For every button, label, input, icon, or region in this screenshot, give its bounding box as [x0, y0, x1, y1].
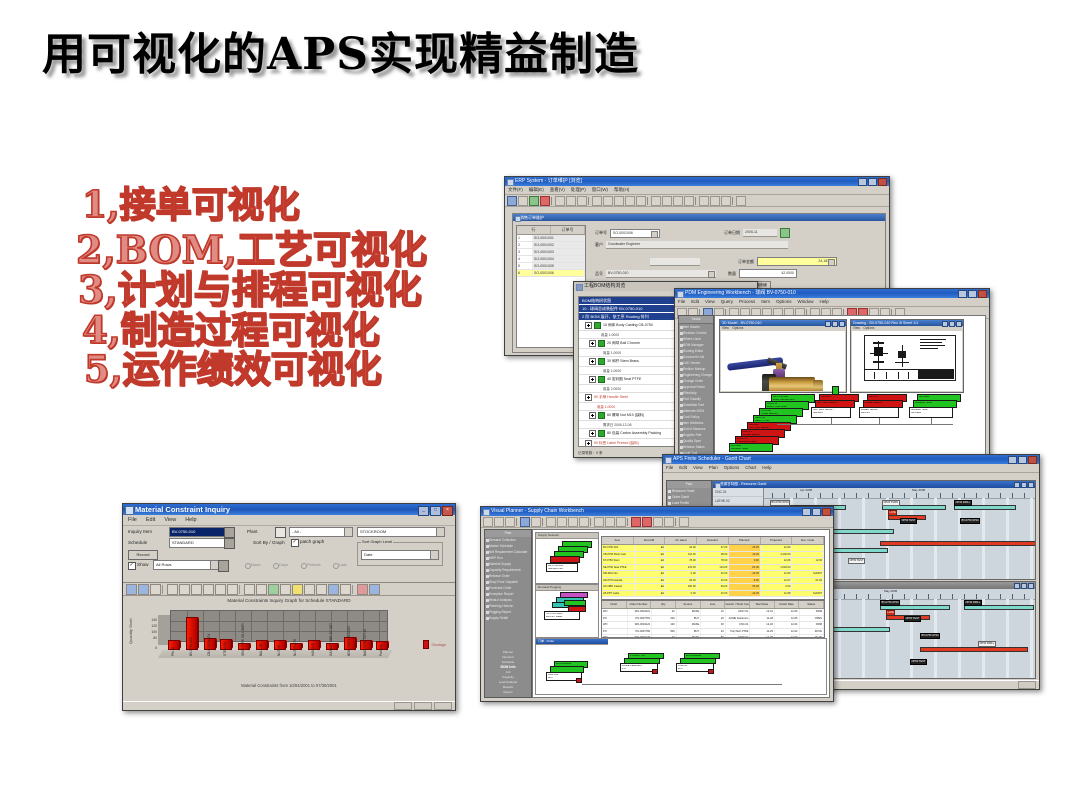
legend-swatch-shortage [423, 640, 429, 649]
input-inquiry-item[interactable]: BV-0750-010 [169, 527, 225, 537]
table-row[interactable]: 1 SO-0001001 [517, 235, 585, 242]
node-sublabel: LABEL SHORT [865, 402, 901, 405]
minimize-icon[interactable] [802, 508, 811, 516]
cell-order: PO [602, 629, 628, 635]
zoom-in-icon[interactable] [304, 584, 315, 595]
cell-projected: 4,200.00 [761, 552, 793, 558]
tree-item-sub: 用量 2.0000 [603, 386, 621, 391]
node-detail-line-2: LB-PRT [861, 412, 897, 415]
app-icon [677, 291, 684, 298]
maximize-icon[interactable] [1018, 456, 1027, 464]
grid-col-no: 行 [517, 226, 551, 234]
cad-note-line-2 [920, 342, 942, 343]
menu-view[interactable]: View [853, 326, 860, 330]
menubar-erp[interactable]: 文件(F) 编辑(E) 查看(V) 处理(P) 窗口(W) 帮助(H) [505, 186, 889, 195]
open-chart-icon[interactable] [126, 584, 137, 595]
menubar-pdm[interactable]: File Edit View Query Process Item Option… [675, 298, 989, 307]
node-card-short[interactable] [550, 556, 580, 563]
menu-window[interactable]: Window [798, 298, 814, 306]
cad-note-line-4 [920, 348, 938, 349]
cell-qty: 200 [652, 616, 677, 622]
gantt-bar-label: BV-0750 OP10 [960, 518, 980, 524]
radio-none[interactable]: None [251, 562, 261, 567]
help-icon[interactable] [736, 196, 746, 206]
maximize-icon[interactable] [968, 290, 977, 298]
table-view-icon[interactable] [227, 584, 238, 595]
subwindow-3d-viewer[interactable]: 3D Model - BV-0750-010 View Options [719, 319, 847, 393]
cad-note-line-1 [920, 339, 946, 340]
cut-icon[interactable] [555, 196, 565, 206]
gantt-row-header[interactable]: LATHE-02 [713, 497, 763, 506]
maximize-icon[interactable] [949, 321, 955, 327]
plan-pane-order[interactable]: 订单 - Order WO-0004121 ASSY-01 WO PO-0007… [535, 638, 827, 695]
menu-help[interactable]: Help [820, 298, 829, 306]
save-chart-icon[interactable] [138, 584, 149, 595]
sort-icon[interactable] [662, 196, 672, 206]
plan-canvas[interactable]: Supply Network BV-0750-010 NM-M10 Nut De… [532, 529, 830, 698]
select-plant[interactable]: - All - [289, 527, 353, 537]
node-detail-box[interactable]: LABEL SHORT LB-PRT [859, 407, 899, 418]
cell-item: ST-0750 Stem [602, 558, 635, 564]
maximize-icon[interactable] [832, 321, 838, 327]
save-icon[interactable] [529, 196, 539, 206]
plan-pane-supply-network[interactable]: Supply Network BV-0750-010 NM-M10 Nut [535, 532, 599, 584]
chart-container[interactable]: Material Constraints Inquiry Graph for S… [124, 596, 454, 700]
cell-demand: 134.00 [698, 565, 730, 571]
cad-titleblock [918, 370, 954, 379]
cell-item: HD-0750 Handle [602, 578, 635, 584]
menu-edit[interactable]: 编辑(E) [529, 186, 544, 194]
menubar-mci[interactable]: File Edit View Help [123, 515, 455, 526]
print-icon[interactable] [664, 517, 674, 527]
exception-icon[interactable] [616, 517, 626, 527]
input-qty[interactable]: 42.0000 [739, 269, 797, 278]
table-row-selected[interactable]: 6 SO-0001006 [517, 270, 585, 277]
x-tick-label: BV-0750-010 [189, 637, 193, 656]
table-row[interactable]: 2 SO-0001002 [517, 242, 585, 249]
toolbar-separator [675, 518, 678, 526]
depth-icon[interactable] [256, 584, 267, 595]
chart-title: Material Constraints Inquiry Graph for S… [124, 598, 454, 603]
cell-line: 30 [701, 622, 726, 628]
toolbar-erp[interactable] [505, 195, 889, 207]
graph-connector [582, 684, 782, 685]
table-row[interactable]: 4 SO-0001004 [517, 256, 585, 263]
node-detail-box[interactable]: BV-0750-010 NM-M10 Nut [546, 563, 578, 572]
minimize-icon[interactable] [1008, 456, 1017, 464]
menu-help[interactable]: Help [762, 464, 771, 472]
minimize-icon[interactable] [858, 178, 867, 186]
cell-status: OPEN [800, 616, 825, 622]
subwindow-titlebar-cad[interactable]: Drawing - BV-0750-010 Rev. B Sheet 1/1 [851, 320, 963, 326]
close-icon[interactable] [839, 321, 845, 327]
toolbar-separator [732, 197, 735, 205]
table-row[interactable]: 5 SO-0001005 [517, 263, 585, 270]
menubar-gantt[interactable]: File Edit View Plan Options Chart Help [663, 464, 1039, 473]
titlebar-mci[interactable]: Material Constraint Inquiry _ □ × [123, 504, 455, 515]
col-demand: Demand [697, 537, 729, 544]
gantt-bar-late[interactable] [880, 541, 1036, 546]
cell-onhand: 36.00 [666, 578, 698, 584]
window-controls[interactable]: _ □ × [418, 506, 453, 516]
planning-table-sub[interactable]: Order Order Number Qty Source Line Vendo… [601, 600, 825, 638]
menu-help[interactable]: 帮助(H) [614, 186, 629, 194]
prev-record-icon[interactable] [603, 196, 613, 206]
form-row-amount: 订单金额 24,183.00 [595, 257, 882, 266]
filter-icon[interactable] [531, 517, 541, 527]
cell-demand: 84.00 [698, 584, 730, 590]
menu-edit[interactable]: Edit [691, 298, 699, 306]
zoom-out-icon[interactable] [316, 584, 327, 595]
window-title-mci: Material Constraint Inquiry [135, 505, 230, 514]
input-schedule[interactable]: STANDARD [169, 538, 225, 548]
menu-options[interactable]: Options [732, 326, 743, 330]
gantt-axis-label: Apr 2005 [800, 488, 812, 492]
copy-icon[interactable] [566, 196, 576, 206]
gantt-panel-titlebar-1[interactable]: 资源甘特图 - Resource Gantt [713, 481, 1035, 488]
toolbar-plan[interactable] [481, 516, 833, 528]
prev-record-icon[interactable] [557, 517, 567, 527]
col-item: Item [602, 537, 634, 544]
first-record-icon[interactable] [592, 196, 602, 206]
mrp-run-icon[interactable] [594, 517, 604, 527]
find-icon[interactable] [636, 196, 646, 206]
menu-file[interactable]: 文件(F) [508, 186, 523, 194]
report-icon[interactable] [653, 517, 663, 527]
node-card-short[interactable] [708, 669, 714, 674]
cell-onhand: 0.00 [666, 571, 698, 577]
cell-order: SO-0001005 [533, 263, 585, 269]
minimize-icon[interactable] [958, 290, 967, 298]
gridlines-icon[interactable] [280, 584, 291, 595]
status-text: 记录笔数：9 条 [578, 451, 603, 456]
close-icon[interactable]: × [442, 506, 453, 516]
window-controls[interactable] [802, 508, 831, 516]
menu-process[interactable]: 处理(P) [571, 186, 586, 194]
gantt-bar-label: OP30 DRILL [964, 600, 982, 606]
cell-item: SE-0750 Seat PTFE [602, 565, 635, 571]
minimize-icon[interactable] [825, 321, 831, 327]
menu-process[interactable]: Process [739, 298, 755, 306]
col-exc-code: Exc. Code [792, 537, 824, 544]
label-show: Show [137, 562, 149, 567]
expand-icon[interactable] [589, 430, 596, 437]
menu-help[interactable]: Help [185, 515, 196, 525]
cell-demand: 78.00 [698, 558, 730, 564]
print-icon[interactable] [684, 196, 694, 206]
cell-exc [792, 545, 824, 551]
expand-icon[interactable] [589, 340, 596, 347]
menu-edit[interactable]: Edit [679, 464, 687, 472]
menu-window[interactable]: 窗口(W) [592, 186, 608, 194]
pegging-icon[interactable] [605, 517, 615, 527]
window-controls[interactable] [858, 178, 887, 186]
table-header: Item Rev/UM On Hand Demand Planned Proje… [602, 537, 824, 545]
maximize-icon[interactable] [812, 508, 821, 516]
cell-start: 12-02 [750, 622, 775, 628]
window-controls[interactable] [958, 290, 987, 298]
menu-file[interactable]: File [678, 298, 685, 306]
subwindow-cad-viewer[interactable]: Drawing - BV-0750-010 Rev. B Sheet 1/1 V… [850, 319, 964, 393]
stacked-chart-icon[interactable] [215, 584, 226, 595]
cell-projected: 12-08 [761, 591, 793, 597]
tree-item-label: 60 螺母 Nut M10 (缺料) [607, 413, 644, 418]
valve-3d-model[interactable] [721, 331, 845, 391]
input-amount[interactable]: 24,183.00 [757, 257, 837, 266]
minimize-icon[interactable] [942, 321, 948, 327]
bullet-list: 1,接单可视化 2,BOM,工艺可视化 3,计划与排程可视化 4,制造过程可视化… [76, 186, 476, 389]
calendar-icon[interactable] [721, 196, 731, 206]
titlebar-plan[interactable]: Visual Planner - Supply Chain Workbench [481, 507, 833, 516]
cell-rev: EA [635, 565, 667, 571]
cad-note-line-3 [920, 345, 945, 346]
close-icon[interactable] [822, 508, 831, 516]
bar-chart-icon[interactable] [167, 584, 178, 595]
toolbar-separator [516, 518, 519, 526]
menu-chart[interactable]: Chart [745, 464, 756, 472]
form-row-order-no: 订单号 SO-0001006 订单日期 2005-11 [595, 228, 882, 238]
menu-query[interactable]: Query [721, 298, 733, 306]
last-record-icon[interactable] [579, 517, 589, 527]
confirm-icon[interactable] [780, 228, 790, 238]
apply-button[interactable] [218, 560, 229, 572]
cell-onhand: 0.00 [666, 591, 698, 597]
table-row[interactable]: 3 SO-0001003 [517, 249, 585, 256]
cell-order: SO-0001001 [533, 235, 585, 241]
menu-file[interactable]: File [666, 464, 673, 472]
menu-plan[interactable]: Plan [709, 464, 718, 472]
patch-graph-checkbox[interactable] [291, 539, 299, 547]
window-material-constraint-inquiry[interactable]: Material Constraint Inquiry _ □ × File E… [122, 503, 456, 711]
radio-periods[interactable]: Periods [307, 562, 321, 567]
cell-qty: 42 [652, 609, 677, 615]
cell-order: SO-0001002 [533, 242, 585, 248]
toolbar-mci[interactable] [123, 583, 455, 596]
cell-vendor: ASSY-01 [726, 609, 751, 615]
rotate-3d-icon[interactable] [244, 584, 255, 595]
delete-icon[interactable] [540, 196, 550, 206]
cell-onhand: 78.00 [666, 558, 698, 564]
expand-icon[interactable] [585, 440, 592, 447]
select-warehouse[interactable]: STOCKROOM [357, 527, 445, 537]
new-icon[interactable] [507, 196, 517, 206]
col-finish-date: Finish Date [775, 601, 800, 608]
titlebar-erp[interactable]: ERP System - 订单维护 [浏览] [505, 177, 889, 186]
expand-icon[interactable] [589, 376, 596, 383]
part-icon [598, 376, 605, 383]
print-icon[interactable] [340, 584, 351, 595]
sidebar-item-supply-detail[interactable]: Supply Detail [485, 615, 531, 621]
menu-edit[interactable]: Edit [146, 515, 155, 525]
node-detail-box[interactable]: GASKET NBR GK-NBR [909, 407, 953, 418]
cell-planned: -25.00 [729, 545, 761, 551]
menu-view[interactable]: View [693, 464, 703, 472]
x-tick-label: NUT PLATE [293, 639, 297, 656]
radio-late[interactable]: Late [339, 562, 347, 567]
x-tick-label: CB-0750 BODY [207, 634, 211, 657]
sidebar-footer-report[interactable]: Report [485, 690, 531, 695]
valve-body-shape [769, 377, 815, 391]
node-detail-line: NM-M10 Nut [548, 568, 576, 571]
chart-legend[interactable]: Shortage [423, 640, 446, 649]
window-controls[interactable] [825, 321, 845, 327]
node-detail-line-2: GK-NBR [911, 412, 951, 415]
close-icon[interactable] [956, 321, 962, 327]
cell-demand: 42.00 [698, 571, 730, 577]
gantt-bar-label: OP50 TEST [900, 518, 917, 524]
copy-icon[interactable] [150, 584, 161, 595]
highlight-icon[interactable] [292, 584, 303, 595]
subwindow-titlebar-3d[interactable]: 3D Model - BV-0750-010 [720, 320, 846, 326]
plan-pane-title-3: 订单 - Order [536, 639, 608, 645]
expand-icon[interactable] [589, 358, 596, 365]
minimize-icon[interactable]: _ [418, 506, 429, 516]
cell-no: 6 [517, 270, 533, 276]
export-icon[interactable] [699, 196, 709, 206]
line-chart-icon[interactable] [179, 584, 190, 595]
cell-finish: 12-02 [775, 629, 800, 635]
pdm-sidebar[interactable]: Tasks Item Master Revision Control Where… [678, 315, 714, 464]
bom-network-graph[interactable]: BV-0750-010 BALL VALVE ASSY CB-0750 BODY… [715, 392, 985, 463]
label-plant: Plant [247, 529, 257, 534]
tree-item-label: 50 手柄 Handle Steel [594, 395, 628, 400]
tree-item-label: 10 阀体 Body Casting CB-0750 [603, 323, 653, 328]
save-icon[interactable] [505, 517, 515, 527]
lookup-button[interactable] [224, 538, 235, 549]
lookup-button[interactable] [224, 527, 235, 538]
window-visual-planner[interactable]: Visual Planner - Supply Chain Workbench [480, 506, 834, 702]
mci-parameter-panel[interactable]: Inquiry Item BV-0750-010 Schedule STANDA… [123, 526, 455, 583]
node-card-short[interactable] [576, 678, 582, 683]
planning-table-main[interactable]: Item Rev/UM On Hand Demand Planned Proje… [601, 536, 825, 600]
cell-source: MAKE [677, 622, 702, 628]
filter-icon[interactable] [651, 196, 661, 206]
cell-status: FIRM [800, 609, 825, 615]
cell-projected: 1,018.00 [761, 565, 793, 571]
next-record-icon[interactable] [568, 517, 578, 527]
open-icon[interactable] [494, 517, 504, 527]
menu-options[interactable]: Options [776, 298, 792, 306]
cell-finish: 12-05 [775, 616, 800, 622]
menu-file[interactable]: File [128, 515, 137, 525]
maximize-icon[interactable]: □ [430, 506, 441, 516]
open-icon[interactable] [518, 196, 528, 206]
col-line: Line [701, 601, 726, 608]
close-icon[interactable] [978, 290, 987, 298]
titlebar-gantt[interactable]: APS Finite Scheduler - Gantt Chart [663, 455, 1039, 464]
col-qty: Qty [651, 601, 676, 608]
plan-pane-demand-pegging[interactable]: Demand Pegging ST-0750 Stem LB-PRT Label [535, 584, 599, 638]
help-icon[interactable] [679, 517, 689, 527]
plan-sidebar[interactable]: Plan Demand Collection Master Schedule N… [484, 529, 532, 698]
window-pdm[interactable]: PDM Engineering Workbench - 球阀 BV-0750-0… [674, 288, 990, 468]
expand-icon[interactable] [585, 322, 592, 329]
node-card[interactable]: GK-NBR GASKET NBR [729, 443, 773, 452]
area-chart-icon[interactable] [191, 584, 202, 595]
window-controls[interactable] [1008, 456, 1037, 464]
mdi-titlebar[interactable]: 销售订单维护 [513, 214, 885, 221]
cad-drawing-area[interactable] [852, 331, 962, 391]
menu-view[interactable]: View [722, 326, 729, 330]
pie-chart-icon[interactable] [203, 584, 214, 595]
first-record-icon[interactable] [546, 517, 556, 527]
shortage-icon[interactable] [631, 517, 641, 527]
menu-options[interactable]: Options [724, 464, 740, 472]
node-detail-box[interactable]: ST-0750 Stem LB-PRT Label [544, 611, 580, 620]
table-row[interactable]: LB-PRT Label EA 0.00 42.00 -42.00 12-08 … [602, 591, 824, 598]
window-controls[interactable] [942, 321, 962, 327]
cell-source: MAKE [677, 609, 702, 615]
alert-icon[interactable] [642, 517, 652, 527]
label-qty: 数量 [728, 271, 736, 277]
select-display[interactable]: All Rows [153, 560, 219, 570]
close-icon[interactable] [1028, 456, 1037, 464]
menu-view[interactable]: View [705, 298, 715, 306]
cell-demand: 68.00 [698, 552, 730, 558]
gantt-bar-label: BV-0750 OP10 [880, 600, 900, 606]
chart-plot-area[interactable]: 140 120 100 60 0 PN-40 BV-0750-010 CB-07… [158, 610, 388, 658]
chart-icon[interactable] [710, 196, 720, 206]
cell-order: WO [602, 635, 628, 638]
gantt-row-header[interactable]: CNC-01 [713, 488, 763, 497]
menu-view[interactable]: View [164, 515, 176, 525]
cad-titleblock-cell [886, 372, 887, 379]
app-icon [665, 457, 672, 464]
expand-icon[interactable] [589, 412, 596, 419]
print-preview-icon[interactable] [328, 584, 339, 595]
table-row[interactable]: WO WO-0004123 42 MAKE 50 TEST-01 12-06 1… [602, 635, 824, 638]
cell-line: 50 [701, 635, 726, 638]
radio-days[interactable]: Days [279, 562, 288, 567]
node-detail-box[interactable]: NUT M10 SHORT NM-M10 [811, 407, 851, 418]
expand-icon[interactable] [585, 394, 592, 401]
search-icon[interactable] [520, 517, 530, 527]
legend-icon[interactable] [268, 584, 279, 595]
next-record-icon[interactable] [614, 196, 624, 206]
toolbar-separator [695, 197, 698, 205]
show-checkbox[interactable] [128, 562, 136, 570]
table-header: Order Order Number Qty Source Line Vendo… [602, 601, 824, 609]
input-misc[interactable] [650, 258, 700, 266]
node-card-short[interactable] [652, 669, 658, 674]
refresh-icon[interactable] [673, 196, 683, 206]
record-button[interactable]: Record [128, 550, 158, 560]
paste-icon[interactable] [577, 196, 587, 206]
last-record-icon[interactable] [625, 196, 635, 206]
input-customer[interactable]: Goodwater Engineer [606, 241, 788, 249]
input-order-date[interactable]: 2005-11 [743, 229, 777, 237]
calendar-icon[interactable] [275, 527, 286, 538]
gantt-bar-late[interactable] [920, 647, 1028, 652]
cell-onhand: 42.00 [666, 545, 698, 551]
label-schedule: Schedule [128, 540, 147, 545]
new-icon[interactable] [483, 517, 493, 527]
titlebar-pdm[interactable]: PDM Engineering Workbench - 球阀 BV-0750-0… [675, 289, 989, 298]
x-tick-label: GASKET NBR 3/4 SET [329, 623, 333, 656]
pdm-canvas[interactable]: 3D Model - BV-0750-010 View Options [714, 315, 986, 464]
input-order-no[interactable]: SO-0001006 [610, 229, 660, 238]
refresh-icon[interactable] [357, 584, 368, 595]
input-item[interactable]: BV-0750-010 [606, 270, 716, 278]
menu-options[interactable]: Options [863, 326, 874, 330]
select-sort-graph[interactable]: Date [361, 550, 439, 560]
menu-item[interactable]: Item [761, 298, 770, 306]
maximize-icon[interactable] [868, 178, 877, 186]
export-icon[interactable] [369, 584, 380, 595]
graph-connector [879, 418, 880, 424]
menu-view[interactable]: 查看(V) [550, 186, 565, 194]
close-icon[interactable] [878, 178, 887, 186]
